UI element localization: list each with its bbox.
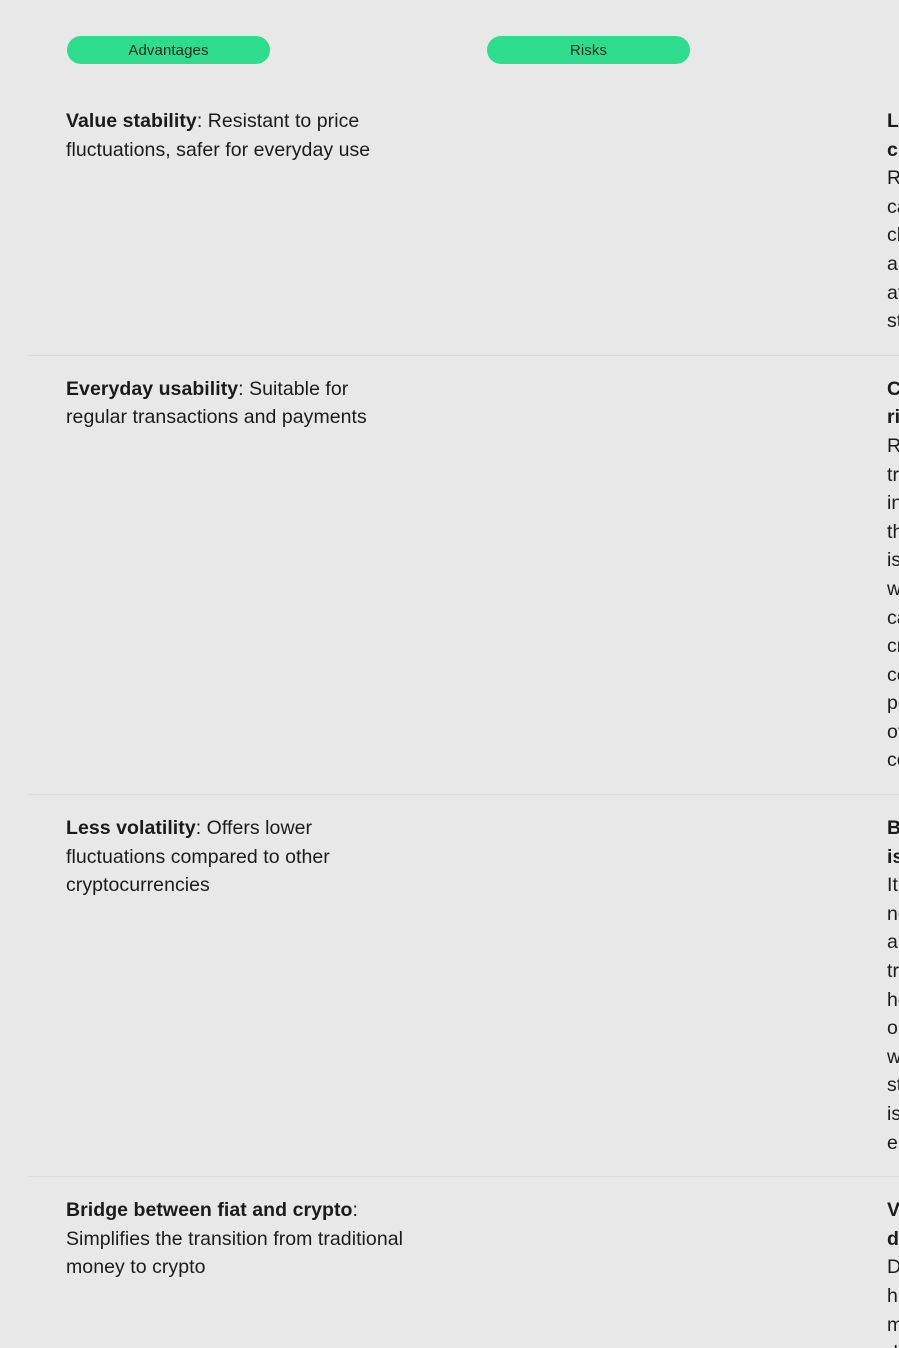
risk-term: Value deviation (887, 1199, 899, 1250)
advantage-cell: Bridge between fiat and crypto: Simplifi… (28, 1177, 428, 1348)
table-body: Value stability: Resistant to price fluc… (0, 88, 899, 1348)
advantage-term: Less volatility (66, 817, 196, 839)
comparison-table: Advantages Risks Value stability: Resist… (0, 0, 899, 674)
risk-description: Regulations can change and affect stabil… (887, 167, 899, 332)
table-row: Bridge between fiat and crypto: Simplifi… (28, 1176, 899, 1348)
advantage-term: Value stability (66, 110, 197, 132)
risk-description: It's not always transparent how or wheth… (887, 874, 899, 1153)
advantage-cell: Everyday usability: Suitable for regular… (28, 356, 428, 794)
advantage-separator: : (352, 1199, 357, 1221)
risk-description: During high market dynamics, the price m… (887, 1256, 899, 1348)
advantage-term: Bridge between fiat and crypto (66, 1199, 352, 1221)
table-row: Value stability: Resistant to price fluc… (0, 88, 899, 355)
table-header-row: Advantages Risks (0, 36, 899, 64)
risk-term: Backing issues (887, 817, 899, 868)
risk-term: Centralisation risks (887, 378, 899, 429)
table-row: Everyday usability: Suitable for regular… (28, 355, 899, 794)
advantage-separator: : (196, 817, 207, 839)
risks-badge: Risks (487, 36, 690, 64)
risk-cell: Centralisation risks: Requires trust in … (428, 356, 899, 794)
advantages-badge-label: Advantages (128, 42, 208, 59)
risk-cell: Value deviation: During high market dyna… (428, 1177, 899, 1348)
risk-cell: Backing issues: It's not always transpar… (428, 795, 899, 1176)
advantage-cell: Less volatility: Offers lower fluctuatio… (28, 795, 428, 1176)
risk-term: Legal challenges (887, 110, 899, 161)
risk-cell: Legal challenges: Regulations can change… (400, 88, 899, 355)
advantage-separator: : (238, 378, 249, 400)
advantage-description: Simplifies the transition from tradition… (66, 1228, 403, 1279)
advantage-term: Everyday usability (66, 378, 238, 400)
risk-description: Requires trust in the issuer, which can … (887, 435, 899, 772)
table-row: Less volatility: Offers lower fluctuatio… (28, 794, 899, 1176)
risks-badge-label: Risks (570, 42, 607, 59)
advantages-badge: Advantages (67, 36, 270, 64)
advantage-separator: : (197, 110, 208, 132)
advantage-cell: Value stability: Resistant to price fluc… (0, 88, 400, 355)
